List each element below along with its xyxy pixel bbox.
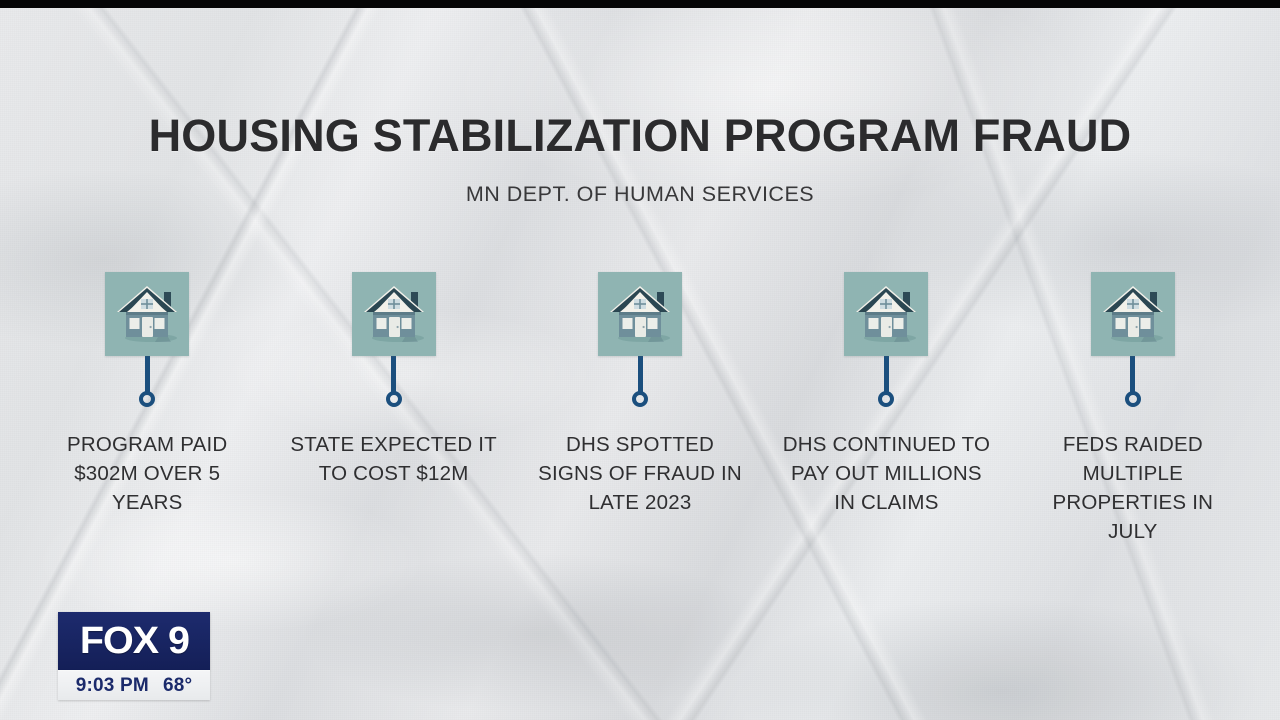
connector-line [1130,356,1135,392]
node-connector [878,356,894,407]
connector-line [638,356,643,392]
connector-line [145,356,150,392]
timeline-node-label: STATE EXPECTED IT TO COST $12M [286,430,501,488]
connector-dot [878,391,894,407]
node-connector [386,356,402,407]
connector-line [391,356,396,392]
timeline-node: STATE EXPECTED IT TO COST $12M [270,272,516,488]
connector-dot [632,391,648,407]
node-connector [139,356,155,407]
station-bug: FOX 9 9:03 PM 68° [58,612,210,700]
house-icon [844,272,928,356]
station-info-strip: 9:03 PM 68° [58,670,210,700]
node-connector [632,356,648,407]
timeline-node-label: DHS SPOTTED SIGNS OF FRAUD IN LATE 2023 [533,430,748,517]
node-connector [1125,356,1141,407]
house-icon [1091,272,1175,356]
timeline-node-label: DHS CONTINUED TO PAY OUT MILLIONS IN CLA… [779,430,994,517]
current-time: 9:03 PM [76,675,149,697]
station-logo-text: FOX 9 [79,620,188,663]
connector-line [884,356,889,392]
timeline: PROGRAM PAID $302M OVER 5 YEARS [24,272,1256,546]
letterbox-top-bar [0,0,1280,8]
timeline-node-label: PROGRAM PAID $302M OVER 5 YEARS [40,430,255,517]
house-icon [598,272,682,356]
timeline-node: DHS CONTINUED TO PAY OUT MILLIONS IN CLA… [763,272,1009,517]
page-subtitle: MN DEPT. OF HUMAN SERVICES [0,182,1280,207]
broadcast-graphic: HOUSING STABILIZATION PROGRAM FRAUD MN D… [0,0,1280,720]
timeline-node: PROGRAM PAID $302M OVER 5 YEARS [24,272,270,517]
connector-dot [139,391,155,407]
heading-block: HOUSING STABILIZATION PROGRAM FRAUD MN D… [0,112,1280,207]
house-icon [352,272,436,356]
timeline-node: DHS SPOTTED SIGNS OF FRAUD IN LATE 2023 [517,272,763,517]
station-logo: FOX 9 [58,612,210,670]
page-title: HOUSING STABILIZATION PROGRAM FRAUD [0,112,1280,159]
house-icon [105,272,189,356]
timeline-node-label: FEDS RAIDED MULTIPLE PROPERTIES IN JULY [1025,430,1240,546]
current-temperature: 68° [163,675,192,697]
connector-dot [1125,391,1141,407]
connector-dot [386,391,402,407]
timeline-node: FEDS RAIDED MULTIPLE PROPERTIES IN JULY [1010,272,1256,546]
